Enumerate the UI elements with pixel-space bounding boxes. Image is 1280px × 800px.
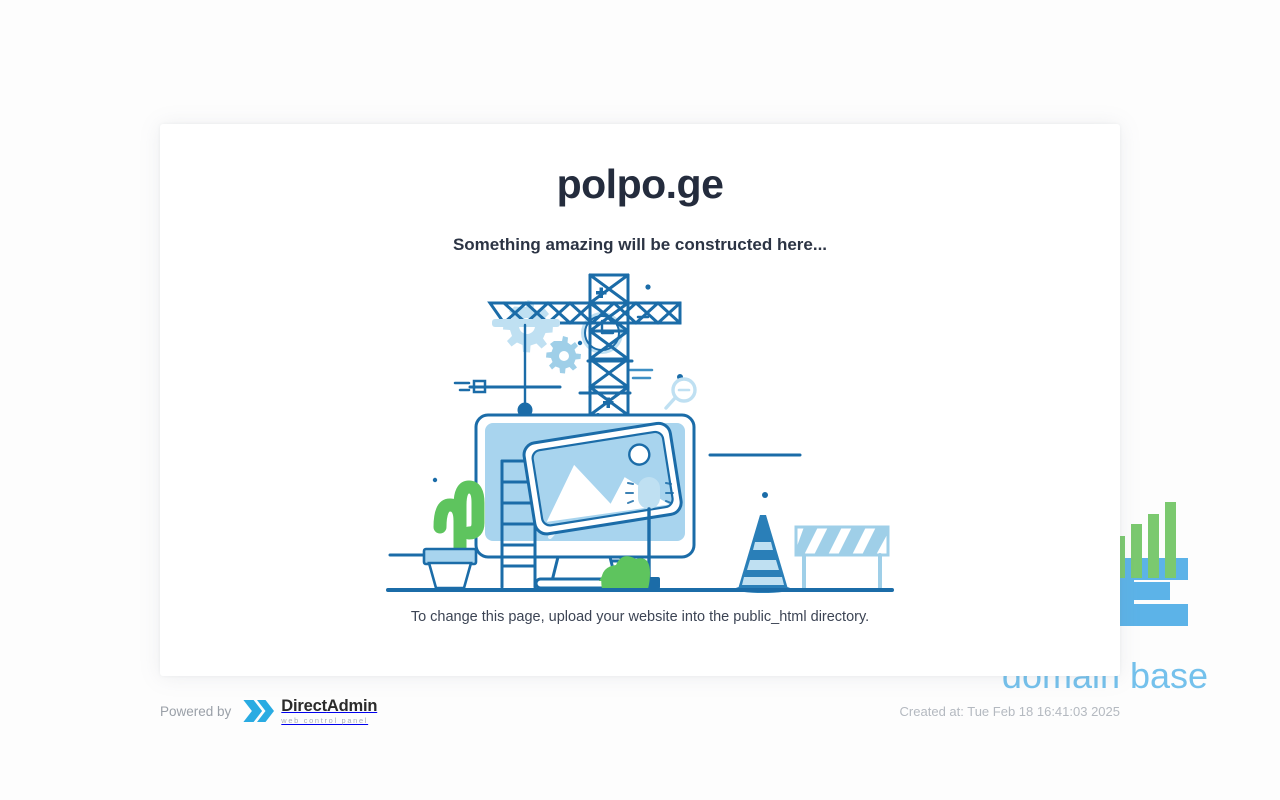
directadmin-wordmark: DirectAdmin web control panel <box>281 698 377 725</box>
directadmin-chevron-icon <box>240 698 274 724</box>
cactus-plant <box>424 487 478 588</box>
page-title: polpo.ge <box>557 124 724 209</box>
construction-card: polpo.ge Something amazing will be const… <box>160 124 1120 676</box>
directadmin-name-second: Admin <box>327 697 377 715</box>
traffic-cone <box>735 515 791 593</box>
upload-hint: To change this page, upload your website… <box>411 595 869 625</box>
directadmin-name: DirectAdmin <box>281 698 377 715</box>
page-footer: Powered by DirectAdmin web control panel… <box>160 694 1120 728</box>
directadmin-logo[interactable]: DirectAdmin web control panel <box>240 698 377 725</box>
powered-by-block: Powered by DirectAdmin web control panel <box>160 698 377 725</box>
powered-by-label: Powered by <box>160 704 231 719</box>
page-subtitle: Something amazing will be constructed he… <box>453 209 827 255</box>
magnifier-icon <box>666 379 695 408</box>
page-root: domain base polpo.ge Something amazing w… <box>0 0 1280 800</box>
directadmin-name-first: Direct <box>281 697 327 715</box>
created-at-text: Created at: Tue Feb 18 16:41:03 2025 <box>900 704 1120 719</box>
directadmin-tagline: web control panel <box>281 714 377 724</box>
barricade <box>796 527 888 589</box>
under-construction-illustration <box>380 265 900 595</box>
